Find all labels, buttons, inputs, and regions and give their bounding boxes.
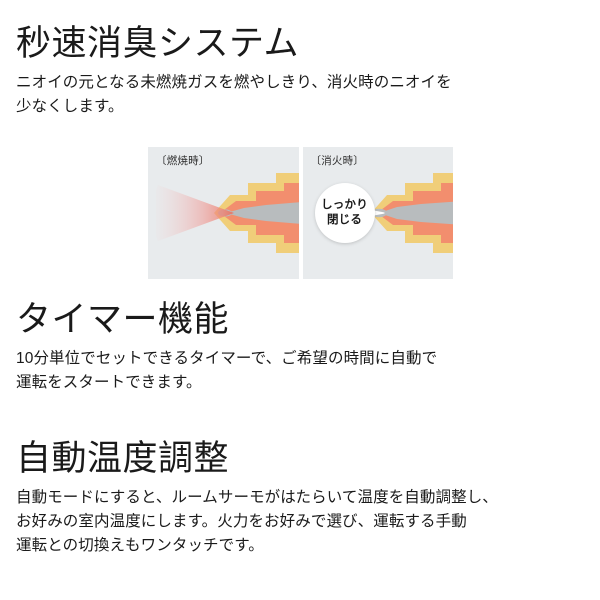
section-auto-body-line-2: お好みの室内温度にします。火力をお好みで選び、運転する手動: [16, 510, 584, 534]
section-timer-body: 10分単位でセットできるタイマーで、ご希望の時間に自動で 運転をスタートできます…: [16, 347, 584, 395]
callout-line-1: しっかり: [321, 198, 368, 213]
burner-nozzle-icon: [214, 167, 299, 259]
section-auto-body-line-3: 運転との切換えもワンタッチです。: [16, 534, 584, 558]
diagram-panel-burning-label: 〔燃焼時〕: [156, 153, 210, 168]
diagram-panel-burning: 〔燃焼時〕: [148, 147, 299, 279]
section-timer-body-line-1: 10分単位でセットできるタイマーで、ご希望の時間に自動で: [16, 347, 584, 371]
section-timer-body-line-2: 運転をスタートできます。: [16, 371, 584, 395]
section-odor-body-line-1: ニオイの元となる未燃焼ガスを燃やしきり、消火時のニオイを: [16, 71, 584, 95]
burner-diagram: 〔燃焼時〕: [148, 147, 453, 279]
section-odor-heading: 秒速消臭システム: [16, 26, 584, 61]
section-auto-temperature-body: 自動モードにすると、ルームサーモがはたらいて温度を自動調整し、 お好みの室内温度…: [16, 486, 584, 558]
section-odor-body: ニオイの元となる未燃焼ガスを燃やしきり、消火時のニオイを 少なくします。: [16, 71, 584, 119]
diagram-panel-extinguished-label: 〔消火時〕: [311, 153, 365, 168]
section-odor-body-line-2: 少なくします。: [16, 95, 584, 119]
diagram-panel-extinguished: 〔消火時〕 しっかり 閉じる: [303, 147, 454, 279]
callout-bubble-close-tight: しっかり 閉じる: [315, 183, 375, 243]
section-timer: タイマー機能 10分単位でセットできるタイマーで、ご希望の時間に自動で 運転をス…: [0, 302, 600, 395]
section-auto-temperature-heading: 自動温度調整: [16, 441, 584, 476]
callout-line-2: 閉じる: [327, 213, 362, 228]
section-timer-heading: タイマー機能: [16, 302, 584, 337]
section-auto-body-line-1: 自動モードにすると、ルームサーモがはたらいて温度を自動調整し、: [16, 486, 584, 510]
section-odor: 秒速消臭システム ニオイの元となる未燃焼ガスを燃やしきり、消火時のニオイを 少な…: [0, 26, 600, 119]
product-feature-page: 秒速消臭システム ニオイの元となる未燃焼ガスを燃やしきり、消火時のニオイを 少な…: [0, 0, 600, 600]
section-auto-temperature: 自動温度調整 自動モードにすると、ルームサーモがはたらいて温度を自動調整し、 お…: [0, 441, 600, 558]
